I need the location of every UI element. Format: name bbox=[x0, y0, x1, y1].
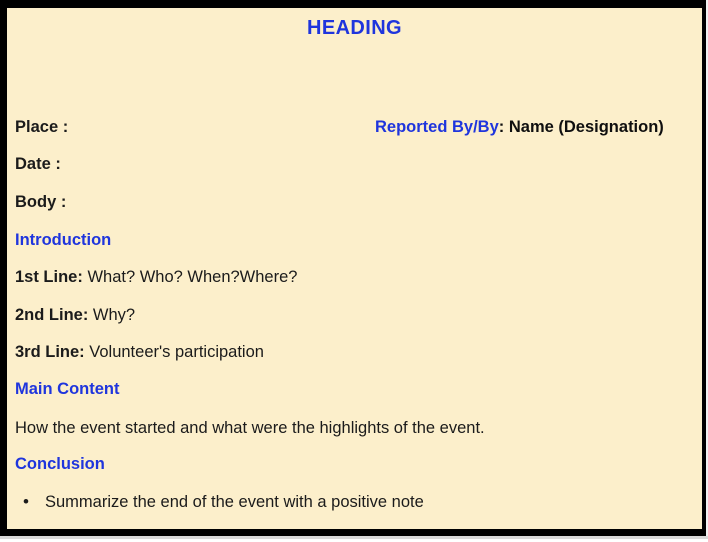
section-heading-conclusion: Conclusion bbox=[15, 455, 105, 474]
section-heading-introduction: Introduction bbox=[15, 231, 111, 250]
section-heading-main-content: Main Content bbox=[15, 380, 120, 399]
report-template-page: HEADING Place : Reported By/By: Name (De… bbox=[0, 0, 708, 542]
document-sheet: HEADING Place : Reported By/By: Name (De… bbox=[7, 8, 702, 529]
field-body-label: Body : bbox=[15, 193, 66, 212]
intro-line-3-value: Volunteer's participation bbox=[85, 343, 264, 361]
intro-line-2: 2nd Line: Why? bbox=[15, 306, 135, 325]
reported-by-value: : Name (Designation) bbox=[499, 118, 664, 136]
list-item: •Summarize the end of the event with a p… bbox=[15, 492, 424, 512]
bullet-icon: • bbox=[15, 492, 45, 512]
outer-bottom-hairline bbox=[0, 536, 708, 539]
reported-by-line: Reported By/By: Name (Designation) bbox=[375, 118, 664, 137]
field-place-label: Place : bbox=[15, 118, 68, 137]
main-content-paragraph: How the event started and what were the … bbox=[15, 419, 485, 438]
page-title: HEADING bbox=[7, 17, 702, 40]
intro-line-2-label: 2nd Line: bbox=[15, 306, 88, 324]
intro-line-1: 1st Line: What? Who? When?Where? bbox=[15, 268, 297, 287]
intro-line-2-value: Why? bbox=[88, 306, 135, 324]
conclusion-bullet-1-text: Summarize the end of the event with a po… bbox=[45, 493, 424, 512]
field-date-label: Date : bbox=[15, 155, 61, 174]
intro-line-1-label: 1st Line: bbox=[15, 268, 83, 286]
intro-line-3-label: 3rd Line: bbox=[15, 343, 85, 361]
intro-line-3: 3rd Line: Volunteer's participation bbox=[15, 343, 264, 362]
intro-line-1-value: What? Who? When?Where? bbox=[83, 268, 298, 286]
reported-by-label: Reported By/By bbox=[375, 118, 499, 136]
